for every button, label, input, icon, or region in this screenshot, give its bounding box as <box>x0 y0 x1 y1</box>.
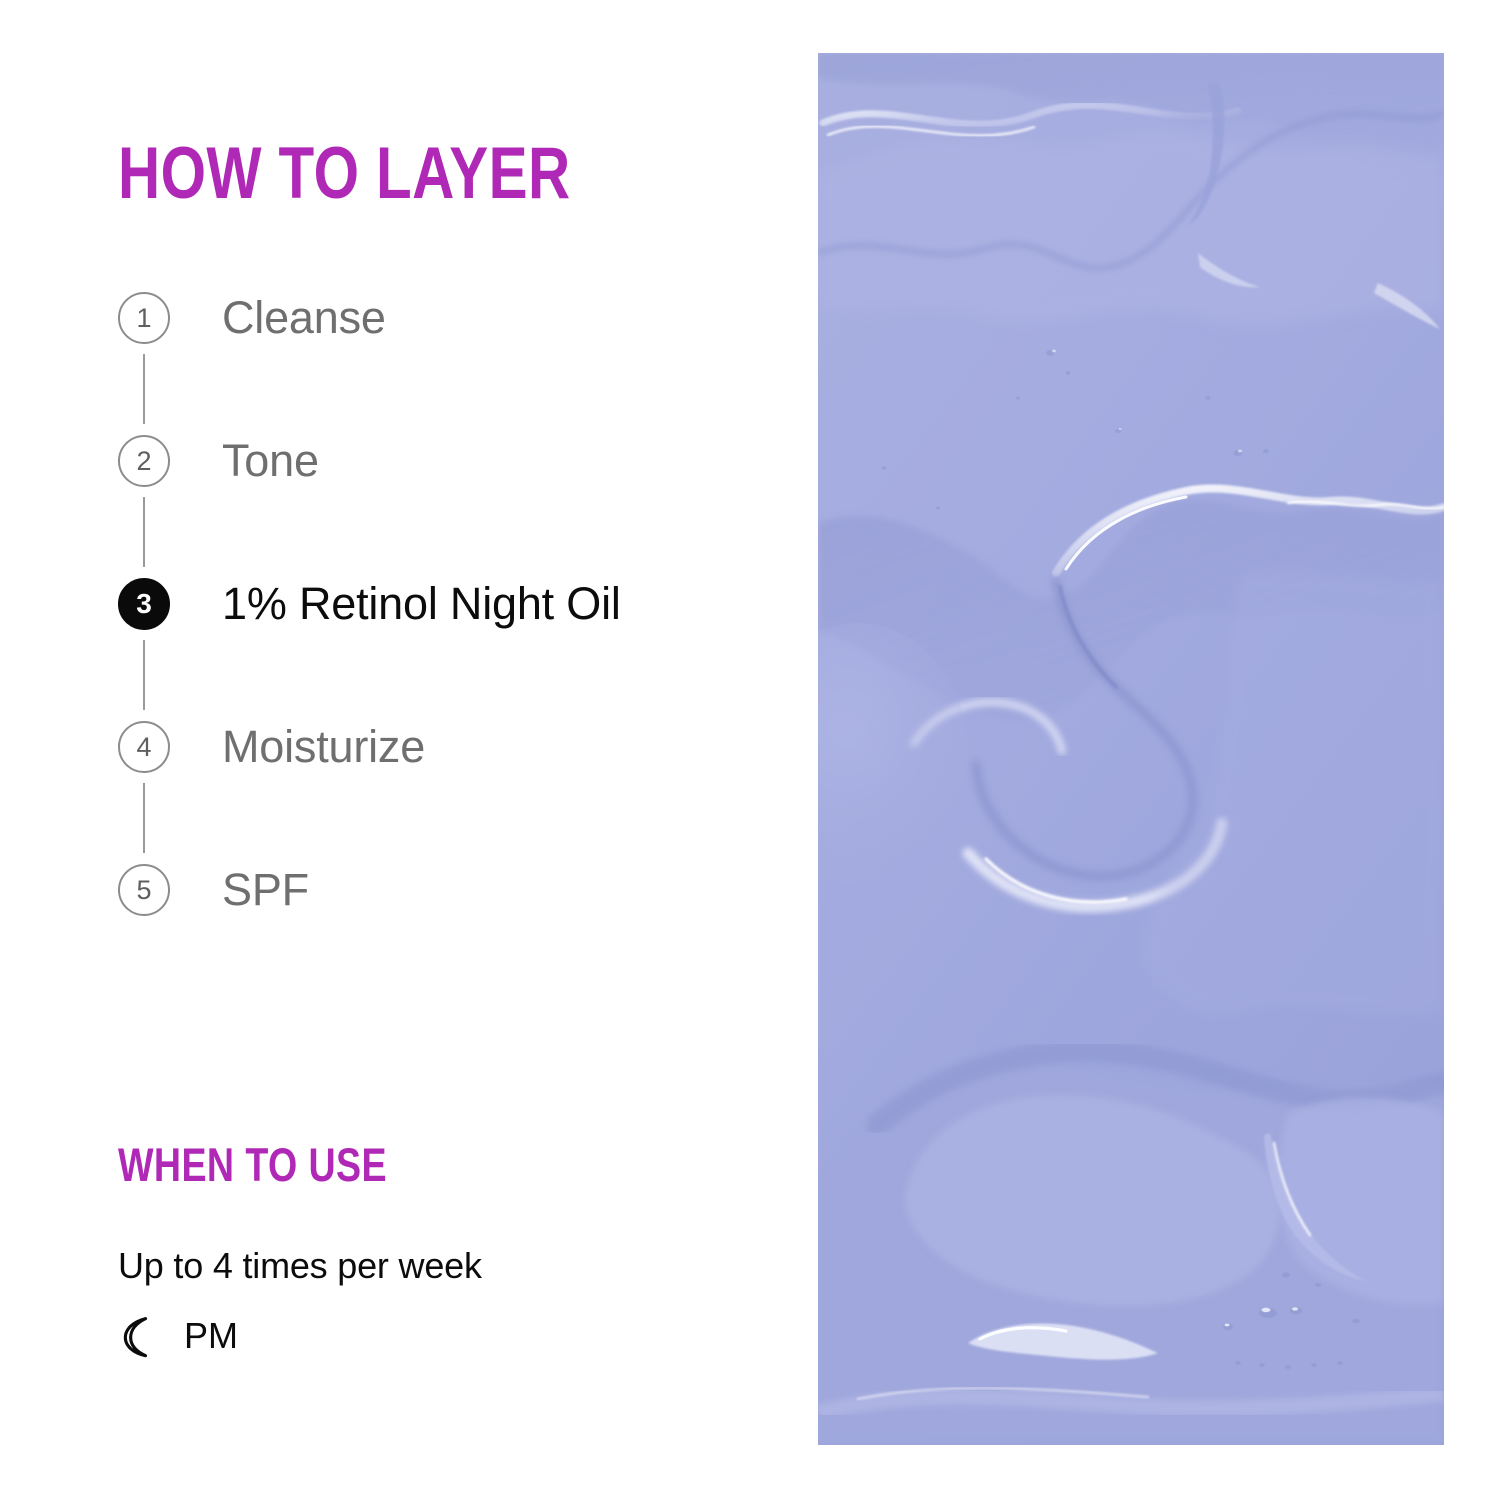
usage-details: Up to 4 times per week PM <box>118 1248 738 1360</box>
step-number-badge: 5 <box>118 864 170 916</box>
step-label: Tone <box>222 435 319 487</box>
product-texture-image <box>818 53 1444 1445</box>
how-to-layer-heading: HOW TO LAYER <box>118 137 571 210</box>
when-to-use-heading: WHEN TO USE <box>118 1141 387 1188</box>
step-number-badge: 1 <box>118 292 170 344</box>
step-number-badge-active: 3 <box>118 578 170 630</box>
layering-step-1[interactable]: 1 Cleanse <box>118 292 778 435</box>
step-connector-line <box>143 640 145 710</box>
left-content-column: HOW TO LAYER 1 Cleanse 2 Tone 3 1% Retin… <box>0 0 818 1500</box>
product-info-panel: HOW TO LAYER 1 Cleanse 2 Tone 3 1% Retin… <box>0 0 1500 1500</box>
gel-texture-swatch <box>818 53 1444 1445</box>
layering-step-5[interactable]: 5 SPF <box>118 864 778 924</box>
layering-step-3-active[interactable]: 3 1% Retinol Night Oil <box>118 578 778 721</box>
usage-time-label: PM <box>184 1318 238 1354</box>
layering-steps-list: 1 Cleanse 2 Tone 3 1% Retinol Night Oil … <box>118 292 778 924</box>
step-label: SPF <box>222 864 309 916</box>
step-number-badge: 4 <box>118 721 170 773</box>
usage-frequency-text: Up to 4 times per week <box>118 1248 738 1284</box>
step-connector-line <box>143 497 145 567</box>
step-connector-line <box>143 354 145 424</box>
step-label: Cleanse <box>222 292 386 344</box>
step-number-badge: 2 <box>118 435 170 487</box>
step-connector-line <box>143 783 145 853</box>
layering-step-2[interactable]: 2 Tone <box>118 435 778 578</box>
layering-step-4[interactable]: 4 Moisturize <box>118 721 778 864</box>
step-label-active: 1% Retinol Night Oil <box>222 578 621 630</box>
step-label: Moisturize <box>222 721 425 773</box>
usage-time-row: PM <box>118 1312 738 1360</box>
crescent-moon-icon <box>118 1314 162 1358</box>
